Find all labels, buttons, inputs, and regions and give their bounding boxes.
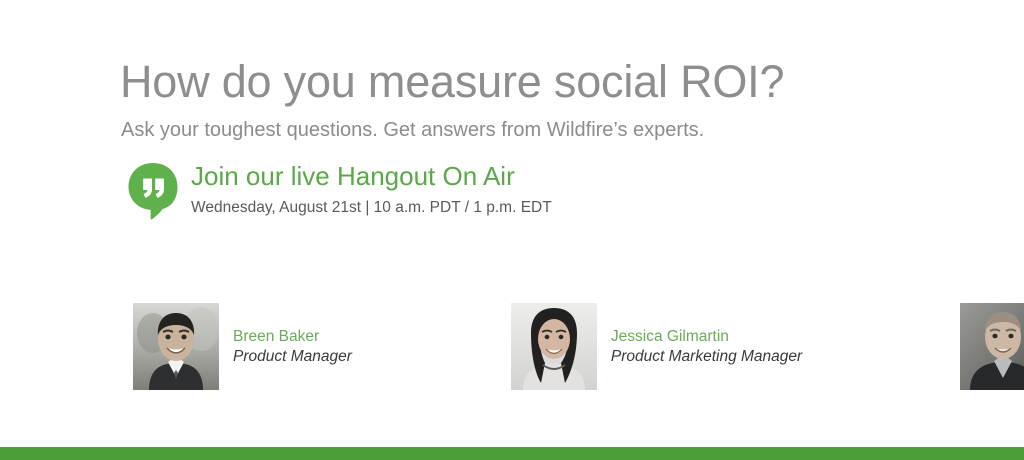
speaker-info: Breen Baker Product Manager (233, 327, 352, 367)
avatar (960, 303, 1024, 390)
speaker-title: Product Manager (233, 347, 352, 366)
page-title: How do you measure social ROI? (120, 58, 784, 105)
hangouts-icon (127, 162, 179, 220)
speaker-title: Product Marketing Manager (611, 347, 802, 366)
hangout-text-block: Join our live Hangout On Air Wednesday, … (191, 160, 552, 217)
avatar (133, 303, 219, 390)
page-subtitle: Ask your toughest questions. Get answers… (121, 118, 704, 142)
promo-banner: How do you measure social ROI? Ask your … (0, 0, 1024, 460)
speaker-name: Jessica Gilmartin (611, 327, 802, 346)
hangout-title[interactable]: Join our live Hangout On Air (191, 162, 552, 192)
speaker-list: Breen Baker Product Manager (133, 303, 1024, 390)
avatar (511, 303, 597, 390)
hangout-cta[interactable]: Join our live Hangout On Air Wednesday, … (127, 160, 552, 220)
speaker-item: Breen Baker Product Manager (133, 303, 352, 390)
bottom-accent-bar (0, 447, 1024, 460)
hangout-datetime: Wednesday, August 21st | 10 a.m. PDT / 1… (191, 199, 552, 217)
speaker-info: Jessica Gilmartin Product Marketing Mana… (611, 327, 802, 367)
speaker-name: Breen Baker (233, 327, 352, 346)
speaker-item: Jessica Gilmartin Product Marketing Mana… (511, 303, 802, 390)
speaker-item: Aaron Nelson Product Manager (960, 303, 1024, 390)
